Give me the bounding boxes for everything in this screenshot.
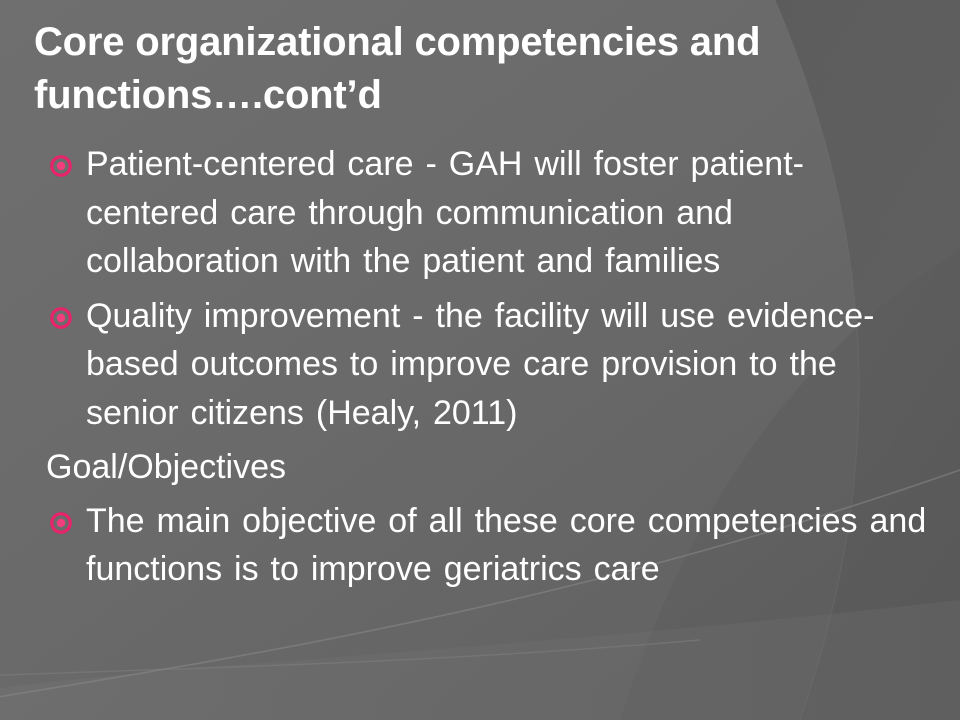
bullet-item-text: Quality improvement - the facility will … <box>86 292 930 438</box>
bullet-item-text: Patient-centered care - GAH will foster … <box>86 140 930 286</box>
target-bullet-icon <box>50 155 72 177</box>
bullet-item-text: The main objective of all these core com… <box>86 497 930 594</box>
presentation-slide: Core organizational competencies and fun… <box>0 0 960 720</box>
slide-title: Core organizational competencies and fun… <box>34 16 934 122</box>
bullet-item-patient-centered-care: Patient-centered care - GAH will foster … <box>0 140 960 286</box>
bullet-item-quality-improvement: Quality improvement - the facility will … <box>0 292 960 438</box>
bullet-item-main-objective: The main objective of all these core com… <box>0 497 960 594</box>
target-bullet-icon <box>50 307 72 329</box>
goal-objectives-heading: Goal/Objectives <box>0 443 960 492</box>
slide-body: Patient-centered care - GAH will foster … <box>0 140 960 600</box>
target-bullet-icon <box>50 512 72 534</box>
goal-objectives-text: Goal/Objectives <box>46 443 930 492</box>
